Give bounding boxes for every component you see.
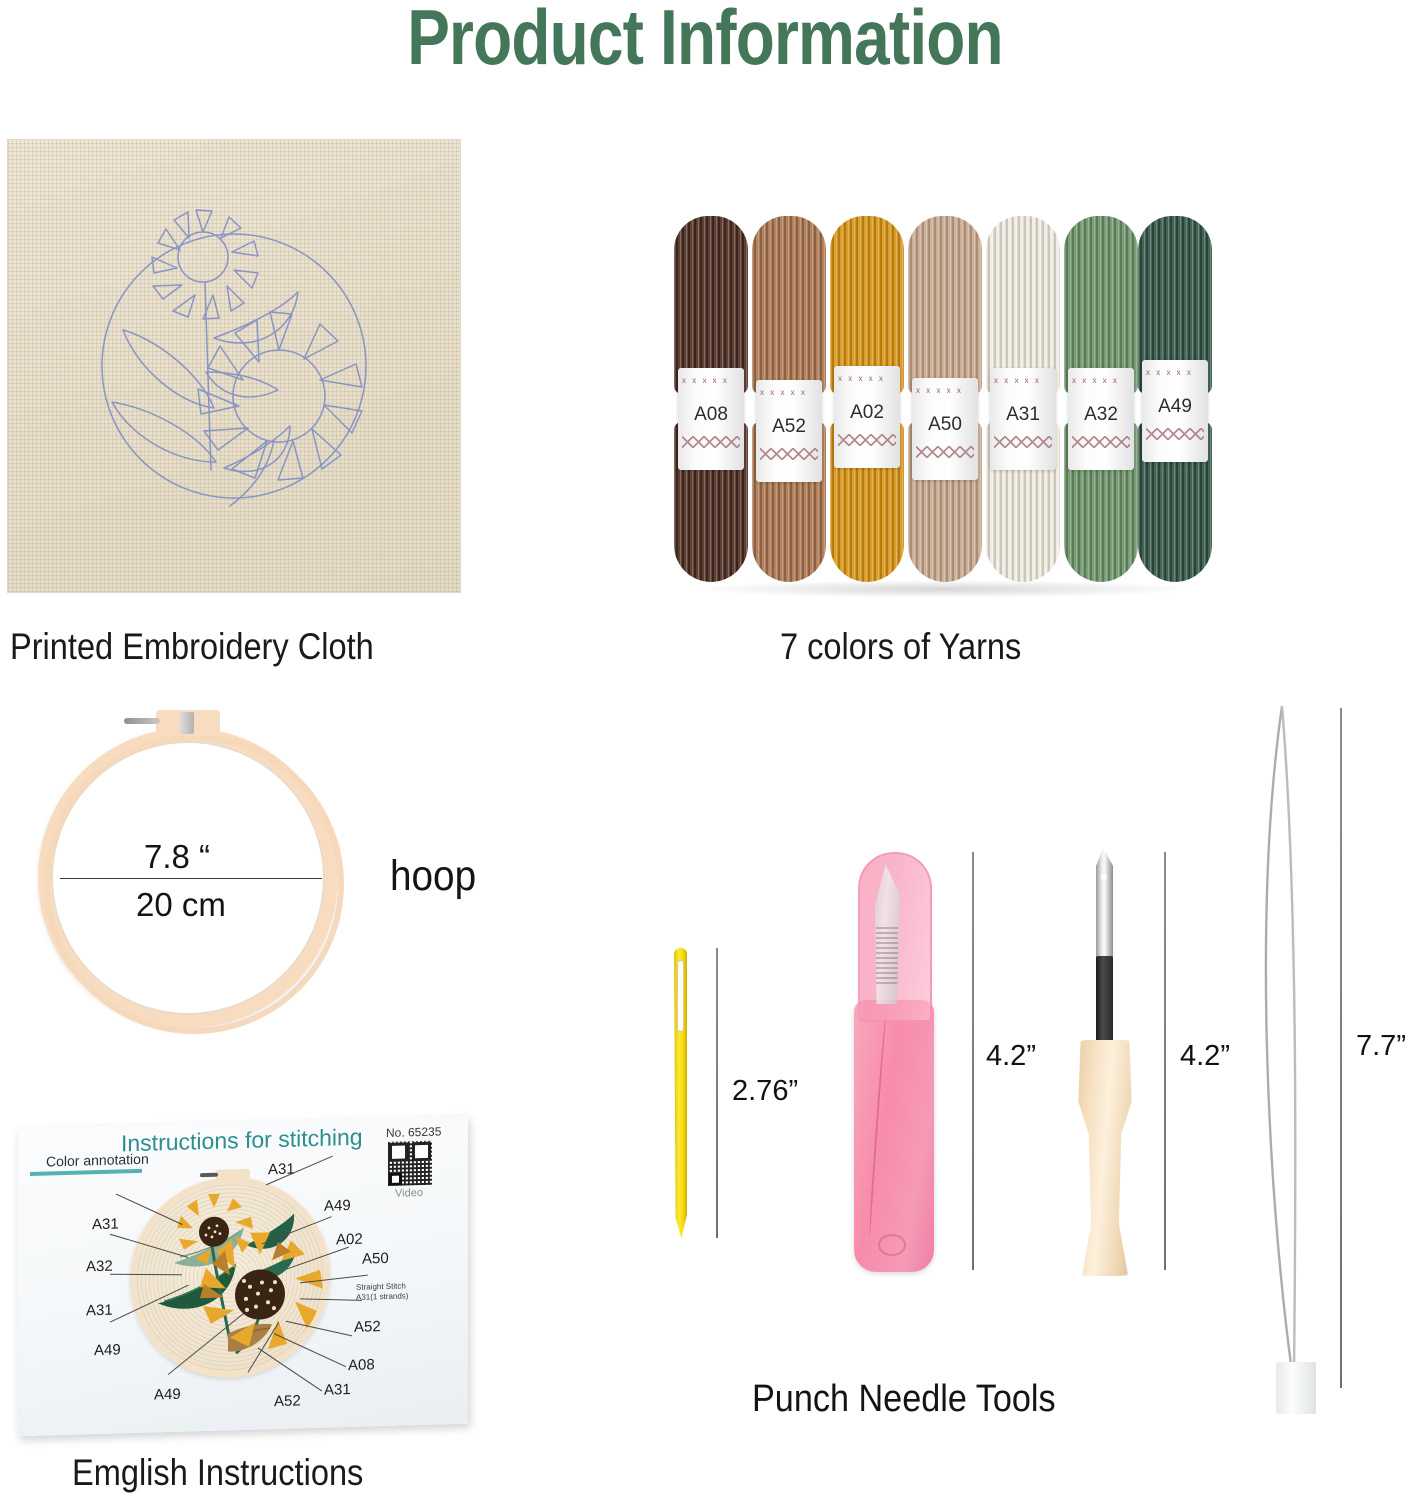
band-zigzag bbox=[916, 446, 974, 458]
band-x-pattern-top: x x x x x bbox=[1146, 368, 1204, 377]
snips-thumb-dot bbox=[878, 1234, 906, 1256]
embroidery-hoop-image: 7.8 “ 20 cm bbox=[38, 700, 368, 1030]
annotation-label-right-1: A49 bbox=[324, 1197, 351, 1215]
yarn-shadow bbox=[688, 580, 1198, 598]
card-hoop-artwork bbox=[130, 1175, 330, 1381]
annotation-label-right-4: A52 bbox=[354, 1318, 381, 1336]
yarn-bundles-image: x x x x x A08 x x x x x A52 x x x x x A0… bbox=[672, 208, 1214, 590]
yarn-bundle: x x x x x A32 bbox=[1062, 208, 1140, 580]
sunflower-pattern-outline bbox=[8, 140, 460, 592]
yarn-needle-icon bbox=[674, 948, 687, 1238]
card-hoop-screw bbox=[216, 1169, 250, 1181]
instruction-card-image: Instructions for stitching No. 65235 Vid… bbox=[18, 1116, 468, 1437]
qr-corner-icon bbox=[389, 1173, 402, 1186]
annotation-label-bottom-2: A52 bbox=[274, 1392, 301, 1410]
yarn-code: A31 bbox=[990, 404, 1056, 426]
snips-dimension-line bbox=[972, 852, 974, 1270]
annotation-label-left-1: A31 bbox=[92, 1215, 119, 1233]
hoop-tightening-screw bbox=[156, 710, 220, 736]
tools-caption: Punch Needle Tools bbox=[752, 1378, 1056, 1421]
band-zigzag bbox=[1072, 436, 1130, 448]
band-zigzag bbox=[838, 434, 896, 446]
yarn-bundle: x x x x x A49 bbox=[1136, 208, 1214, 580]
yarn-label-band: x x x x x A50 bbox=[912, 378, 978, 480]
hoop-size-inches: 7.8 “ bbox=[144, 838, 210, 876]
yarn-code: A49 bbox=[1142, 396, 1208, 418]
band-x-pattern-top: x x x x x bbox=[760, 388, 818, 397]
band-zigzag bbox=[760, 448, 818, 460]
annotation-label-bottom-3: A31 bbox=[324, 1381, 351, 1399]
yarn-label-band: x x x x x A32 bbox=[1068, 368, 1134, 470]
yarn-code: A50 bbox=[912, 414, 978, 436]
annotation-label-right-3: A50 bbox=[362, 1250, 389, 1268]
yarn-top bbox=[908, 216, 982, 394]
product-information-infographic: Product Information bbox=[0, 0, 1410, 1500]
instructions-caption: Emglish Instructions bbox=[72, 1452, 363, 1494]
annotation-label-top: A31 bbox=[268, 1161, 295, 1179]
yarn-bundle: x x x x x A50 bbox=[906, 208, 984, 580]
needle-eye bbox=[677, 960, 684, 1032]
punch-dimension-line bbox=[1164, 852, 1166, 1270]
printed-embroidery-cloth-image bbox=[8, 140, 460, 592]
yarn-bundle: x x x x x A31 bbox=[984, 208, 1062, 580]
yarn-code: A02 bbox=[834, 402, 900, 424]
yarn-top bbox=[752, 216, 826, 394]
yarn-code: A08 bbox=[678, 404, 744, 426]
stitch-note-line2: A31(1 strands) bbox=[356, 1291, 408, 1301]
snips-handle bbox=[854, 1000, 934, 1272]
color-annotation-underline bbox=[30, 1169, 142, 1176]
cloth-caption: Printed Embroidery Cloth bbox=[10, 626, 374, 668]
needle-dimension-line bbox=[716, 948, 718, 1238]
hoop-size-cm: 20 cm bbox=[136, 886, 226, 924]
needle-dimension-text: 2.76” bbox=[732, 1075, 798, 1108]
annotation-label-bottom-1: A49 bbox=[154, 1386, 181, 1404]
yarn-code: A32 bbox=[1068, 404, 1134, 426]
punch-needle-tools-image: 2.76” 4.2” 4.2” Punch Needle Tools bbox=[650, 830, 1270, 1450]
yarn-label-band: x x x x x A08 bbox=[678, 368, 744, 470]
annotation-label-left-2: A32 bbox=[86, 1258, 113, 1276]
yarn-label-band: x x x x x A31 bbox=[990, 368, 1056, 470]
thread-snips-icon bbox=[848, 850, 940, 1275]
card-number: No. 65235 bbox=[386, 1124, 441, 1140]
band-x-pattern-top: x x x x x bbox=[994, 376, 1052, 385]
punch-needle-tip bbox=[1096, 848, 1113, 960]
threader-wire bbox=[1240, 700, 1360, 1400]
yarns-caption: 7 colors of Yarns bbox=[780, 626, 1021, 668]
band-x-pattern-top: x x x x x bbox=[916, 386, 974, 395]
band-zigzag bbox=[682, 436, 740, 448]
threader-dimension-line bbox=[1340, 708, 1342, 1388]
yarn-label-band: x x x x x A02 bbox=[834, 366, 900, 468]
annotation-label-left-3: A31 bbox=[86, 1302, 113, 1320]
yarn-code: A52 bbox=[756, 416, 822, 438]
page-title: Product Information bbox=[127, 0, 1283, 78]
yarn-label-band: x x x x x A49 bbox=[1142, 360, 1208, 462]
threader-grip bbox=[1276, 1362, 1316, 1414]
punch-needle-handle bbox=[1076, 1040, 1134, 1276]
stitch-note-line1: Straight Stitch bbox=[356, 1281, 406, 1291]
hoop-diameter-line bbox=[60, 878, 322, 879]
yarn-bundle: x x x x x A08 bbox=[672, 208, 750, 580]
annotation-label-right-5: A08 bbox=[348, 1356, 375, 1374]
wire-threader-image: 7.7” bbox=[1240, 700, 1410, 1430]
qr-video-caption: Video bbox=[395, 1187, 423, 1200]
band-x-pattern-top: x x x x x bbox=[838, 374, 896, 383]
yarn-bundle: x x x x x A52 bbox=[750, 208, 828, 580]
punch-dimension-text: 4.2” bbox=[1180, 1040, 1230, 1073]
band-zigzag bbox=[1146, 428, 1204, 440]
yarn-label-band: x x x x x A52 bbox=[756, 380, 822, 482]
snips-dimension-text: 4.2” bbox=[986, 1040, 1036, 1073]
punch-needle-icon bbox=[1068, 848, 1142, 1278]
card-title: Instructions for stitching bbox=[121, 1124, 363, 1158]
punch-needle-ferrule bbox=[1096, 956, 1113, 1048]
annotation-label-left-4: A49 bbox=[94, 1341, 121, 1359]
annotation-label-right-2: A02 bbox=[336, 1231, 363, 1249]
color-annotation-label: Color annotation bbox=[46, 1151, 149, 1170]
hoop-label: hoop bbox=[390, 852, 476, 901]
threader-dimension-text: 7.7” bbox=[1356, 1030, 1406, 1063]
card-sunflower-embroidery bbox=[136, 1180, 330, 1380]
yarn-bundle: x x x x x A02 bbox=[828, 208, 906, 580]
band-x-pattern-top: x x x x x bbox=[1072, 376, 1130, 385]
band-x-pattern-top: x x x x x bbox=[682, 376, 740, 385]
band-zigzag bbox=[994, 436, 1052, 448]
